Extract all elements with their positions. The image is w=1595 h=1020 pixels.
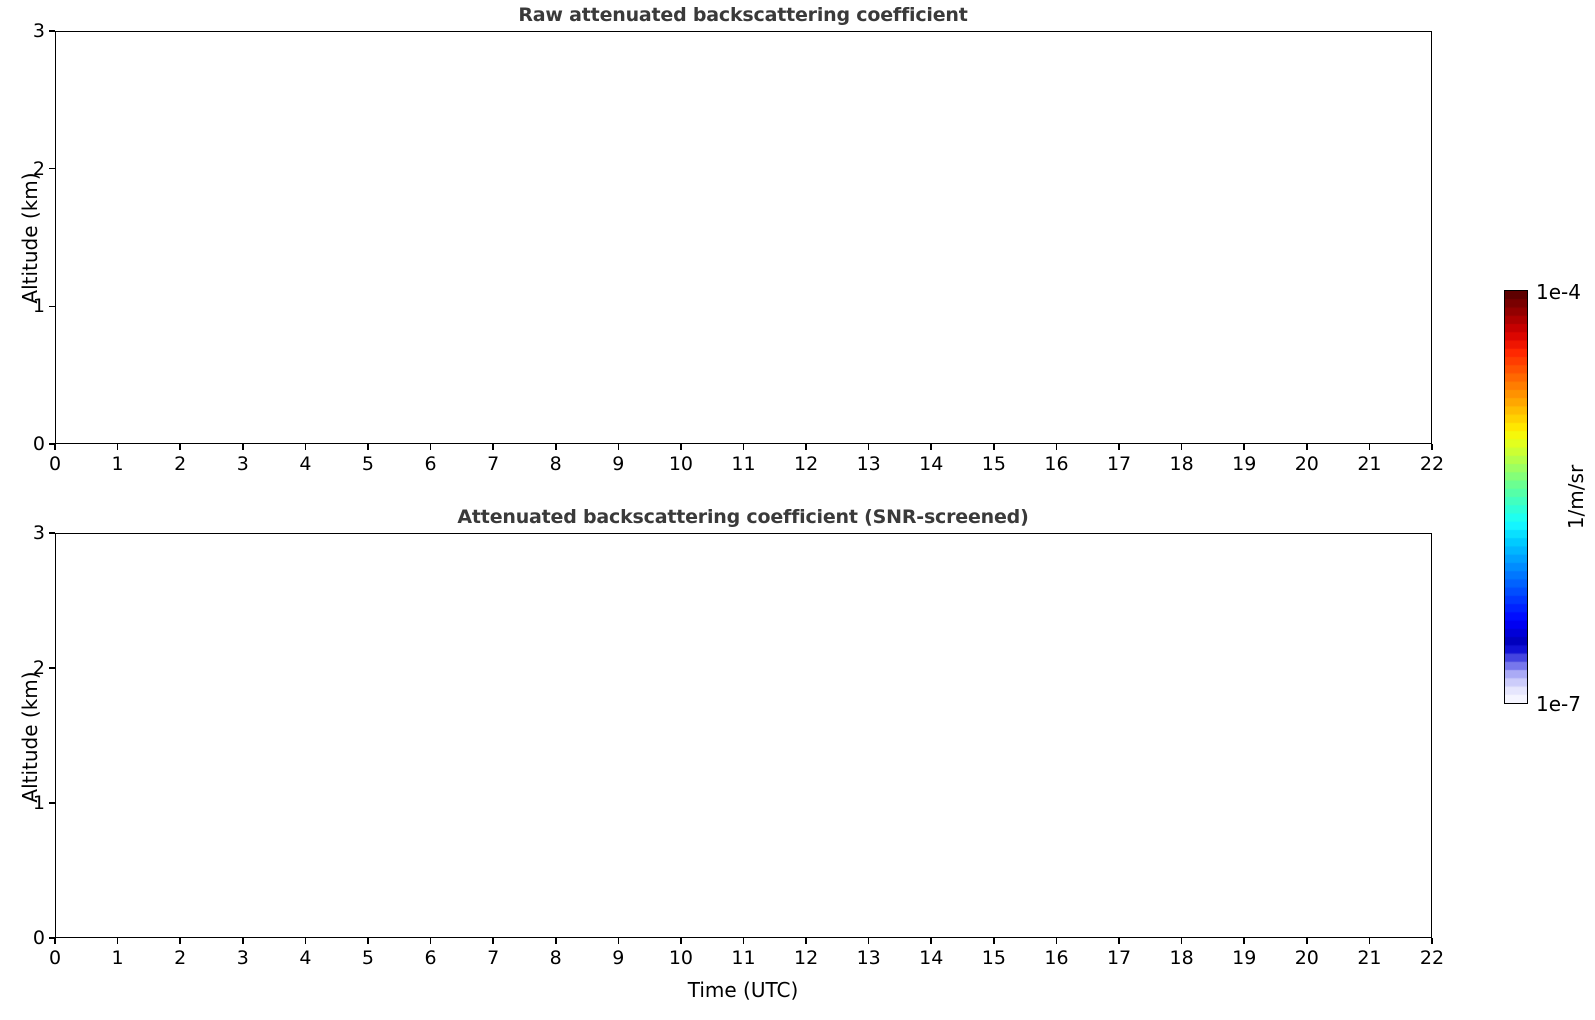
x-tick-label: 7 [487, 453, 499, 475]
x-tick-label: 7 [487, 947, 499, 969]
x-tick [1181, 444, 1183, 450]
x-tick [1181, 938, 1183, 944]
x-tick-label: 1 [112, 453, 124, 475]
y-tick [49, 443, 55, 445]
x-tick [743, 938, 745, 944]
x-tick-label: 19 [1232, 453, 1256, 475]
x-tick-label: 22 [1420, 453, 1444, 475]
x-tick-label: 10 [669, 453, 693, 475]
x-tick [868, 444, 870, 450]
y-tick-label: 0 [19, 433, 45, 455]
x-tick-label: 10 [669, 947, 693, 969]
x-tick-label: 9 [612, 453, 624, 475]
x-tick-label: 16 [1044, 453, 1068, 475]
y-tick [49, 30, 55, 32]
x-tick-label: 1 [112, 947, 124, 969]
x-tick-label: 8 [550, 453, 562, 475]
x-tick [430, 444, 432, 450]
y-axis-label-snr: Altitude (km) [18, 671, 42, 802]
colorbar-min-label: 1e-7 [1536, 692, 1581, 716]
x-tick-label: 3 [237, 453, 249, 475]
x-tick-label: 20 [1295, 453, 1319, 475]
x-tick-label: 19 [1232, 947, 1256, 969]
x-tick-label: 16 [1044, 947, 1068, 969]
x-tick [179, 444, 181, 450]
x-tick-label: 12 [794, 947, 818, 969]
x-tick [1369, 444, 1371, 450]
y-axis-label-raw: Altitude (km) [18, 172, 42, 303]
x-tick-label: 18 [1170, 453, 1194, 475]
x-tick-label: 14 [919, 947, 943, 969]
x-tick-label: 12 [794, 453, 818, 475]
colorbar-frame [1504, 290, 1528, 704]
x-tick [1118, 444, 1120, 450]
x-tick [805, 938, 807, 944]
x-tick-label: 11 [731, 453, 755, 475]
plot-title-snr: Attenuated backscattering coefficient (S… [0, 506, 1486, 528]
x-tick [743, 444, 745, 450]
x-tick [805, 444, 807, 450]
colorbar-max-label: 1e-4 [1536, 280, 1581, 304]
x-tick-label: 8 [550, 947, 562, 969]
x-tick [1306, 938, 1308, 944]
x-tick-label: 4 [299, 453, 311, 475]
x-tick-label: 4 [299, 947, 311, 969]
x-tick [930, 938, 932, 944]
plot-title-raw: Raw attenuated backscattering coefficien… [0, 4, 1486, 26]
x-tick [1369, 938, 1371, 944]
x-tick [117, 444, 119, 450]
x-tick-label: 6 [424, 453, 436, 475]
x-tick-label: 6 [424, 947, 436, 969]
x-tick [1431, 938, 1433, 944]
x-tick [930, 444, 932, 450]
x-tick [367, 444, 369, 450]
x-tick [492, 444, 494, 450]
x-tick-label: 11 [731, 947, 755, 969]
x-tick [305, 938, 307, 944]
y-tick [49, 532, 55, 534]
x-tick-label: 17 [1107, 453, 1131, 475]
x-tick [492, 938, 494, 944]
y-tick [49, 937, 55, 939]
x-tick-label: 17 [1107, 947, 1131, 969]
x-tick-label: 13 [857, 947, 881, 969]
x-tick-label: 0 [49, 453, 61, 475]
x-tick [993, 444, 995, 450]
x-tick [1243, 444, 1245, 450]
x-tick-label: 14 [919, 453, 943, 475]
x-tick [993, 938, 995, 944]
y-tick [49, 667, 55, 669]
x-tick [305, 444, 307, 450]
x-tick [555, 938, 557, 944]
x-tick [618, 938, 620, 944]
y-tick-label: 0 [19, 927, 45, 949]
x-tick-label: 5 [362, 947, 374, 969]
x-tick-label: 2 [174, 453, 186, 475]
x-tick [680, 938, 682, 944]
x-tick-label: 3 [237, 947, 249, 969]
y-tick [49, 306, 55, 308]
x-tick-label: 9 [612, 947, 624, 969]
x-tick-label: 5 [362, 453, 374, 475]
x-tick [1056, 444, 1058, 450]
x-tick [1243, 938, 1245, 944]
x-tick-label: 20 [1295, 947, 1319, 969]
x-tick-label: 18 [1170, 947, 1194, 969]
x-tick-label: 21 [1357, 947, 1381, 969]
x-tick [242, 938, 244, 944]
x-tick [242, 444, 244, 450]
x-tick [618, 444, 620, 450]
x-tick [54, 444, 56, 450]
x-tick-label: 0 [49, 947, 61, 969]
x-tick [117, 938, 119, 944]
x-tick [555, 444, 557, 450]
axes-frame-raw [55, 31, 1432, 444]
x-tick-label: 15 [982, 453, 1006, 475]
x-tick [1431, 444, 1433, 450]
x-tick [1306, 444, 1308, 450]
x-tick-label: 15 [982, 947, 1006, 969]
axes-frame-snr [55, 533, 1432, 938]
y-tick [49, 802, 55, 804]
y-tick-label: 3 [19, 20, 45, 42]
x-tick-label: 22 [1420, 947, 1444, 969]
x-tick-label: 2 [174, 947, 186, 969]
x-tick-label: 21 [1357, 453, 1381, 475]
x-tick [54, 938, 56, 944]
y-tick [49, 168, 55, 170]
x-tick [367, 938, 369, 944]
x-axis-label-time: Time (UTC) [0, 978, 1486, 1002]
x-tick-label: 13 [857, 453, 881, 475]
x-tick [1056, 938, 1058, 944]
x-tick [430, 938, 432, 944]
x-tick [1118, 938, 1120, 944]
x-tick [680, 444, 682, 450]
y-tick-label: 3 [19, 522, 45, 544]
colorbar-unit-label: 1/m/sr [1564, 465, 1588, 529]
x-tick [179, 938, 181, 944]
x-tick [868, 938, 870, 944]
